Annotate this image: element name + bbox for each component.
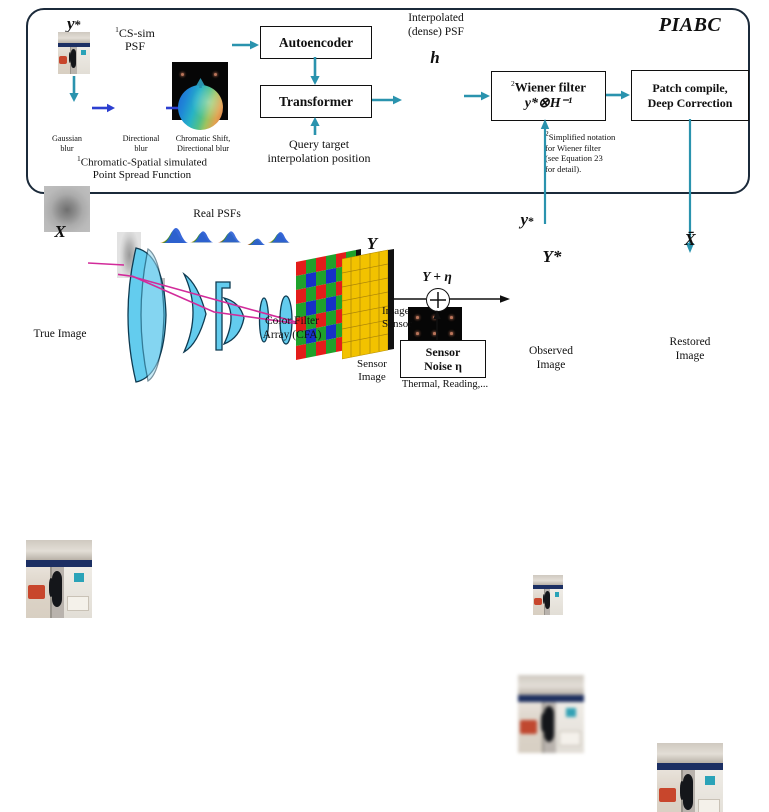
autoencoder-box[interactable]: Autoencoder [260,26,372,59]
image-sensor-label: Image Sensor [382,305,430,331]
arrow-autoencoder-to-transformer [307,57,323,85]
restored-image-thumbnail [657,743,723,812]
transformer-label: Transformer [279,94,353,109]
patch-compile-line2: Deep Correction [648,96,733,111]
cfa-label: Color Filter Array (CFA) [240,315,344,343]
sensor-image-symbol: Y [352,234,392,254]
xbar-symbol: X̄ [684,230,695,249]
query-target-label: Query target interpolation position [248,137,390,165]
arrow-noise-to-sum [430,310,444,342]
arrow-query-to-transformer [307,117,323,135]
sum-label: Y + η [404,268,470,286]
x-symbol: X [54,222,65,241]
chromatic-shift-thumbnail [178,85,223,130]
restored-image-symbol: X̄ [660,230,720,250]
wiener-footnote: 2Simplified notation for Wiener filter (… [545,129,657,175]
restored-image-caption: Restored Image [651,336,729,364]
ystar-patch-thumbnail [58,32,90,74]
arrow-gaussian-to-directional [92,101,115,115]
wiener-formula: y*⊗H⁻¹ [525,96,572,112]
arrow-transformer-to-h [372,93,402,107]
arrow-chromatic-to-psf [193,78,208,88]
chromatic-shift-label: Chromatic Shift, Directional blur [168,134,238,153]
noise-sources-caption: Thermal, Reading,... [390,379,500,391]
piabc-title: PIABC [640,14,740,37]
arrow-psf-to-autoencoder [232,38,259,52]
arrow-wiener-to-patch [606,88,630,102]
cs-sim-psf-text: CS-sim PSF [119,26,155,53]
sensor-noise-line2: Noise η [424,359,462,373]
interpolated-psf-symbol: h [405,48,465,68]
arrow-ystar-to-gaussian [66,76,82,102]
wiener-filter-label: Wiener filter [515,80,586,95]
patch-compile-box[interactable]: Patch compile, Deep Correction [631,70,749,121]
observed-image-thumbnail [518,675,584,753]
observed-patch-thumbnail [533,575,563,615]
h-symbol: h [430,48,439,67]
psf-footnote: 1Chromatic-Spatial simulated Point Sprea… [44,155,240,182]
patch-compile-line1: Patch compile, [652,81,727,96]
observed-patch-symbol: y* [494,210,534,230]
gaussian-blur-label: Gaussian blur [36,134,98,153]
autoencoder-label: Autoencoder [279,35,353,50]
figure-canvas: PIABC y* 1CS-sim PSF Gaussian blur [0,0,769,406]
observed-image-caption: Observed Image [512,345,590,373]
sensor-noise-line1: Sensor [426,345,461,359]
y-symbol: Y [367,234,377,253]
cs-sim-psf-label: 1CS-sim PSF [103,26,167,54]
interpolated-psf-label: Interpolated (dense) PSF [388,12,484,40]
ystar-big-symbol: Y* [543,247,562,266]
real-psfs-label: Real PSFs [172,208,262,221]
psf-footnote-text: Chromatic-Spatial simulated Point Spread… [81,157,207,182]
sensor-noise-box[interactable]: Sensor Noise η [400,340,486,378]
directional-blur-label: Directional blur [109,134,173,153]
arrow-ystar-to-wiener [538,119,552,224]
input-symbol-ystar: y* [52,14,96,34]
true-image-thumbnail [26,540,92,618]
true-image-symbol: X [30,222,90,242]
true-image-caption: True Image [20,328,100,341]
wiener-filter-box[interactable]: 2Wiener filter y*⊗H⁻¹ [491,71,606,121]
sensor-to-observed-arrow [390,292,510,306]
arrow-h-to-wiener [464,89,490,103]
observed-image-symbol: Y* [522,247,582,267]
incoming-ray [88,256,124,268]
sum-label-text: Y + η [422,269,452,284]
transformer-box[interactable]: Transformer [260,85,372,118]
wiener-footnote-text: Simplified notation for Wiener filter (s… [545,132,615,174]
